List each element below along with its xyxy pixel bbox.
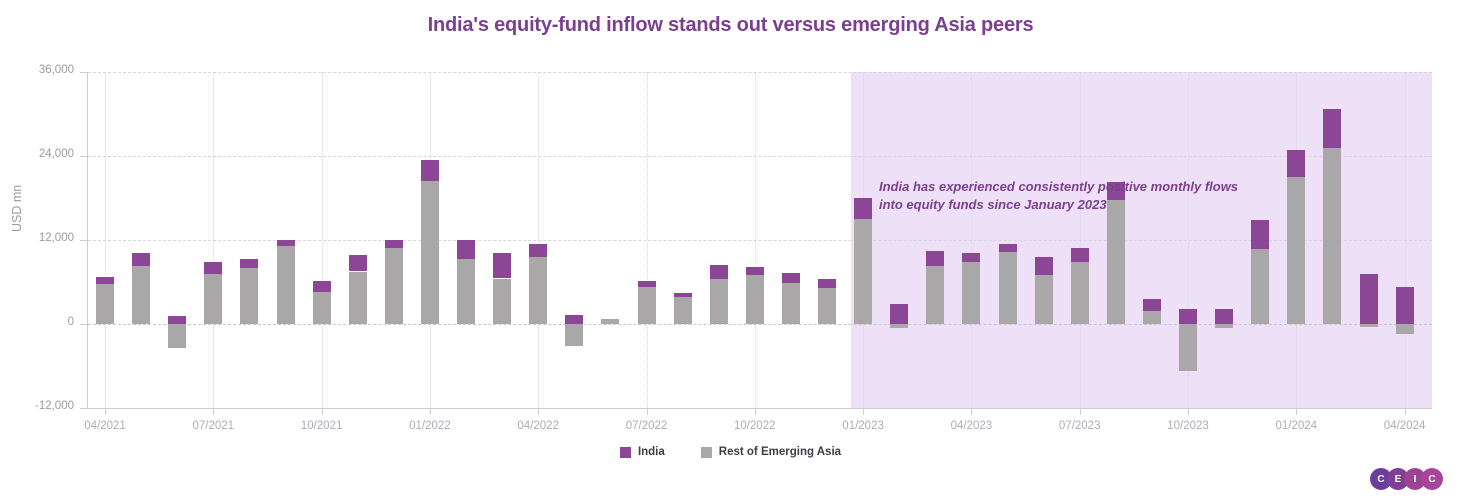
x-axis-tick-label: 04/2022: [517, 420, 559, 432]
x-axis-tick-mark: [971, 408, 972, 415]
x-axis-tick-label: 04/2023: [951, 420, 993, 432]
bar-stack[interactable]: [674, 72, 692, 408]
bar-segment-india: [818, 279, 836, 287]
x-axis-tick-mark: [322, 408, 323, 415]
bar-stack[interactable]: [926, 72, 944, 408]
bar-stack[interactable]: [746, 72, 764, 408]
y-axis-tick-mark: [80, 156, 87, 157]
bar-segment-rest-of-emerging-asia: [818, 288, 836, 324]
bar-segment-rest-of-emerging-asia: [313, 292, 331, 324]
bar-stack[interactable]: [132, 72, 150, 408]
bar-segment-india: [1251, 220, 1269, 249]
bar-segment-rest-of-emerging-asia: [132, 266, 150, 324]
bar-segment-india: [493, 253, 511, 279]
bar-stack[interactable]: [1107, 72, 1125, 408]
y-axis-tick-mark: [80, 240, 87, 241]
bar-stack[interactable]: [1287, 72, 1305, 408]
bar-segment-rest-of-emerging-asia: [96, 284, 114, 324]
bar-stack[interactable]: [962, 72, 980, 408]
bar-segment-rest-of-emerging-asia: [529, 257, 547, 324]
bar-segment-india: [132, 253, 150, 266]
bar-stack[interactable]: [1396, 72, 1414, 408]
bar-segment-rest-of-emerging-asia: [277, 246, 295, 324]
x-axis-tick-label: 10/2022: [734, 420, 776, 432]
bar-stack[interactable]: [457, 72, 475, 408]
bar-segment-india: [1179, 309, 1197, 324]
bar-stack[interactable]: [1035, 72, 1053, 408]
bar-segment-rest-of-emerging-asia: [168, 324, 186, 348]
bar-stack[interactable]: [782, 72, 800, 408]
ceic-logo-letter: C: [1421, 468, 1443, 490]
bar-segment-rest-of-emerging-asia: [240, 268, 258, 324]
bar-segment-rest-of-emerging-asia: [854, 219, 872, 324]
chart-root: India's equity-fund inflow stands out ve…: [0, 0, 1461, 499]
bar-stack[interactable]: [529, 72, 547, 408]
bar-segment-india: [1215, 309, 1233, 324]
bar-stack[interactable]: [1179, 72, 1197, 408]
bar-segment-india: [999, 244, 1017, 252]
x-axis-tick-mark: [1405, 408, 1406, 415]
bar-segment-india: [1360, 274, 1378, 324]
bar-stack[interactable]: [240, 72, 258, 408]
bar-segment-rest-of-emerging-asia: [1251, 249, 1269, 324]
bar-stack[interactable]: [96, 72, 114, 408]
bar-stack[interactable]: [999, 72, 1017, 408]
x-axis-tick-label: 04/2024: [1384, 420, 1426, 432]
x-axis-line: [87, 408, 1432, 409]
bar-segment-rest-of-emerging-asia: [1071, 262, 1089, 324]
bar-stack[interactable]: [1143, 72, 1161, 408]
bar-segment-rest-of-emerging-asia: [999, 252, 1017, 324]
bar-segment-india: [565, 315, 583, 324]
bar-segment-india: [349, 255, 367, 272]
x-axis-tick-mark: [647, 408, 648, 415]
bar-stack[interactable]: [421, 72, 439, 408]
bar-segment-india: [96, 277, 114, 285]
bar-stack[interactable]: [277, 72, 295, 408]
y-axis-line: [87, 72, 88, 408]
y-axis-label: USD mn: [10, 185, 24, 232]
x-axis-tick-label: 07/2021: [193, 420, 235, 432]
bar-segment-rest-of-emerging-asia: [601, 319, 619, 324]
bar-segment-rest-of-emerging-asia: [674, 297, 692, 324]
bar-segment-rest-of-emerging-asia: [962, 262, 980, 324]
x-axis-tick-label: 01/2024: [1276, 420, 1318, 432]
x-axis-tick-mark: [1188, 408, 1189, 415]
bar-segment-india: [313, 281, 331, 292]
bar-segment-rest-of-emerging-asia: [1035, 275, 1053, 324]
x-axis-tick-mark: [213, 408, 214, 415]
bar-stack[interactable]: [168, 72, 186, 408]
bar-segment-india: [1396, 287, 1414, 324]
bar-segment-rest-of-emerging-asia: [638, 287, 656, 324]
y-axis-tick-mark: [80, 408, 87, 409]
bar-segment-rest-of-emerging-asia: [746, 275, 764, 324]
x-axis-tick-label: 07/2022: [626, 420, 668, 432]
y-axis-tick-label: 24,000: [0, 148, 74, 160]
bar-stack[interactable]: [385, 72, 403, 408]
bar-segment-rest-of-emerging-asia: [421, 181, 439, 324]
x-axis-tick-label: 10/2021: [301, 420, 343, 432]
y-axis-tick-mark: [80, 72, 87, 73]
bar-segment-india: [277, 240, 295, 246]
chart-annotation: India has experienced consistently posit…: [879, 178, 1238, 214]
bar-stack[interactable]: [1071, 72, 1089, 408]
legend-label-rest: Rest of Emerging Asia: [719, 446, 841, 458]
bar-stack[interactable]: [818, 72, 836, 408]
x-axis-tick-mark: [863, 408, 864, 415]
y-axis-tick-label: 36,000: [0, 64, 74, 76]
bar-segment-rest-of-emerging-asia: [1107, 200, 1125, 324]
bar-segment-rest-of-emerging-asia: [349, 272, 367, 325]
y-axis-tick-mark: [80, 324, 87, 325]
bar-stack[interactable]: [854, 72, 872, 408]
legend-swatch-rest: [701, 447, 712, 458]
x-axis-tick-label: 01/2022: [409, 420, 451, 432]
plot-area: India has experienced consistently posit…: [88, 72, 1432, 408]
bar-segment-rest-of-emerging-asia: [1179, 324, 1197, 371]
x-axis-tick-mark: [430, 408, 431, 415]
bar-stack[interactable]: [565, 72, 583, 408]
x-axis-tick-label: 07/2023: [1059, 420, 1101, 432]
bar-segment-india: [1143, 299, 1161, 311]
x-axis-tick-mark: [1296, 408, 1297, 415]
page-title: India's equity-fund inflow stands out ve…: [0, 14, 1461, 37]
x-axis-tick-label: 01/2023: [842, 420, 884, 432]
bar-stack[interactable]: [349, 72, 367, 408]
bar-segment-india: [240, 259, 258, 268]
bar-stack[interactable]: [493, 72, 511, 408]
bar-segment-rest-of-emerging-asia: [457, 259, 475, 324]
legend-item-rest[interactable]: Rest of Emerging Asia: [701, 446, 841, 458]
bar-segment-india: [926, 251, 944, 266]
bar-segment-rest-of-emerging-asia: [1360, 324, 1378, 327]
bar-segment-rest-of-emerging-asia: [1396, 324, 1414, 334]
bar-stack[interactable]: [1215, 72, 1233, 408]
bar-segment-india: [204, 262, 222, 275]
bar-stack[interactable]: [313, 72, 331, 408]
bar-segment-india: [674, 293, 692, 297]
chart-legend: India Rest of Emerging Asia: [0, 446, 1461, 458]
y-axis-tick-label: 0: [0, 316, 74, 328]
bar-segment-rest-of-emerging-asia: [1287, 177, 1305, 324]
bar-segment-rest-of-emerging-asia: [385, 248, 403, 324]
bar-stack[interactable]: [601, 72, 619, 408]
bar-segment-india: [1287, 150, 1305, 177]
x-axis-tick-mark: [538, 408, 539, 415]
legend-item-india[interactable]: India: [620, 446, 665, 458]
bar-stack[interactable]: [890, 72, 908, 408]
x-axis-tick-mark: [105, 408, 106, 415]
bar-stack[interactable]: [1251, 72, 1269, 408]
bar-segment-india: [1323, 109, 1341, 148]
bar-segment-rest-of-emerging-asia: [1323, 148, 1341, 324]
bar-stack[interactable]: [1360, 72, 1378, 408]
bar-segment-india: [782, 273, 800, 283]
x-axis-tick-label: 04/2021: [84, 420, 126, 432]
bar-segment-rest-of-emerging-asia: [204, 274, 222, 324]
bar-stack[interactable]: [204, 72, 222, 408]
bar-segment-india: [168, 316, 186, 324]
bar-segment-rest-of-emerging-asia: [890, 324, 908, 328]
bar-segment-india: [1071, 248, 1089, 261]
bar-segment-india: [746, 267, 764, 275]
bar-segment-india: [710, 265, 728, 279]
bar-stack[interactable]: [710, 72, 728, 408]
bar-segment-india: [638, 281, 656, 287]
bar-segment-rest-of-emerging-asia: [926, 266, 944, 324]
bar-segment-rest-of-emerging-asia: [710, 279, 728, 325]
bar-segment-rest-of-emerging-asia: [1143, 311, 1161, 324]
bar-segment-india: [890, 304, 908, 324]
bar-segment-india: [962, 253, 980, 262]
bar-segment-india: [1035, 257, 1053, 275]
x-axis-tick-mark: [1080, 408, 1081, 415]
y-axis-tick-label: -12,000: [0, 400, 74, 412]
x-axis-tick-label: 10/2023: [1167, 420, 1209, 432]
legend-swatch-india: [620, 447, 631, 458]
ceic-logo[interactable]: CEIC: [1370, 468, 1443, 490]
y-axis-tick-label: 12,000: [0, 232, 74, 244]
bar-segment-india: [421, 160, 439, 182]
bar-segment-rest-of-emerging-asia: [1215, 324, 1233, 328]
x-axis-tick-mark: [755, 408, 756, 415]
legend-label-india: India: [638, 446, 665, 458]
bar-segment-rest-of-emerging-asia: [782, 283, 800, 324]
bar-stack[interactable]: [638, 72, 656, 408]
bar-segment-india: [457, 240, 475, 259]
bar-segment-india: [385, 240, 403, 248]
bar-segment-india: [529, 244, 547, 257]
bar-segment-india: [854, 198, 872, 219]
bar-segment-rest-of-emerging-asia: [493, 279, 511, 325]
bar-stack[interactable]: [1323, 72, 1341, 408]
bar-segment-rest-of-emerging-asia: [565, 324, 583, 346]
